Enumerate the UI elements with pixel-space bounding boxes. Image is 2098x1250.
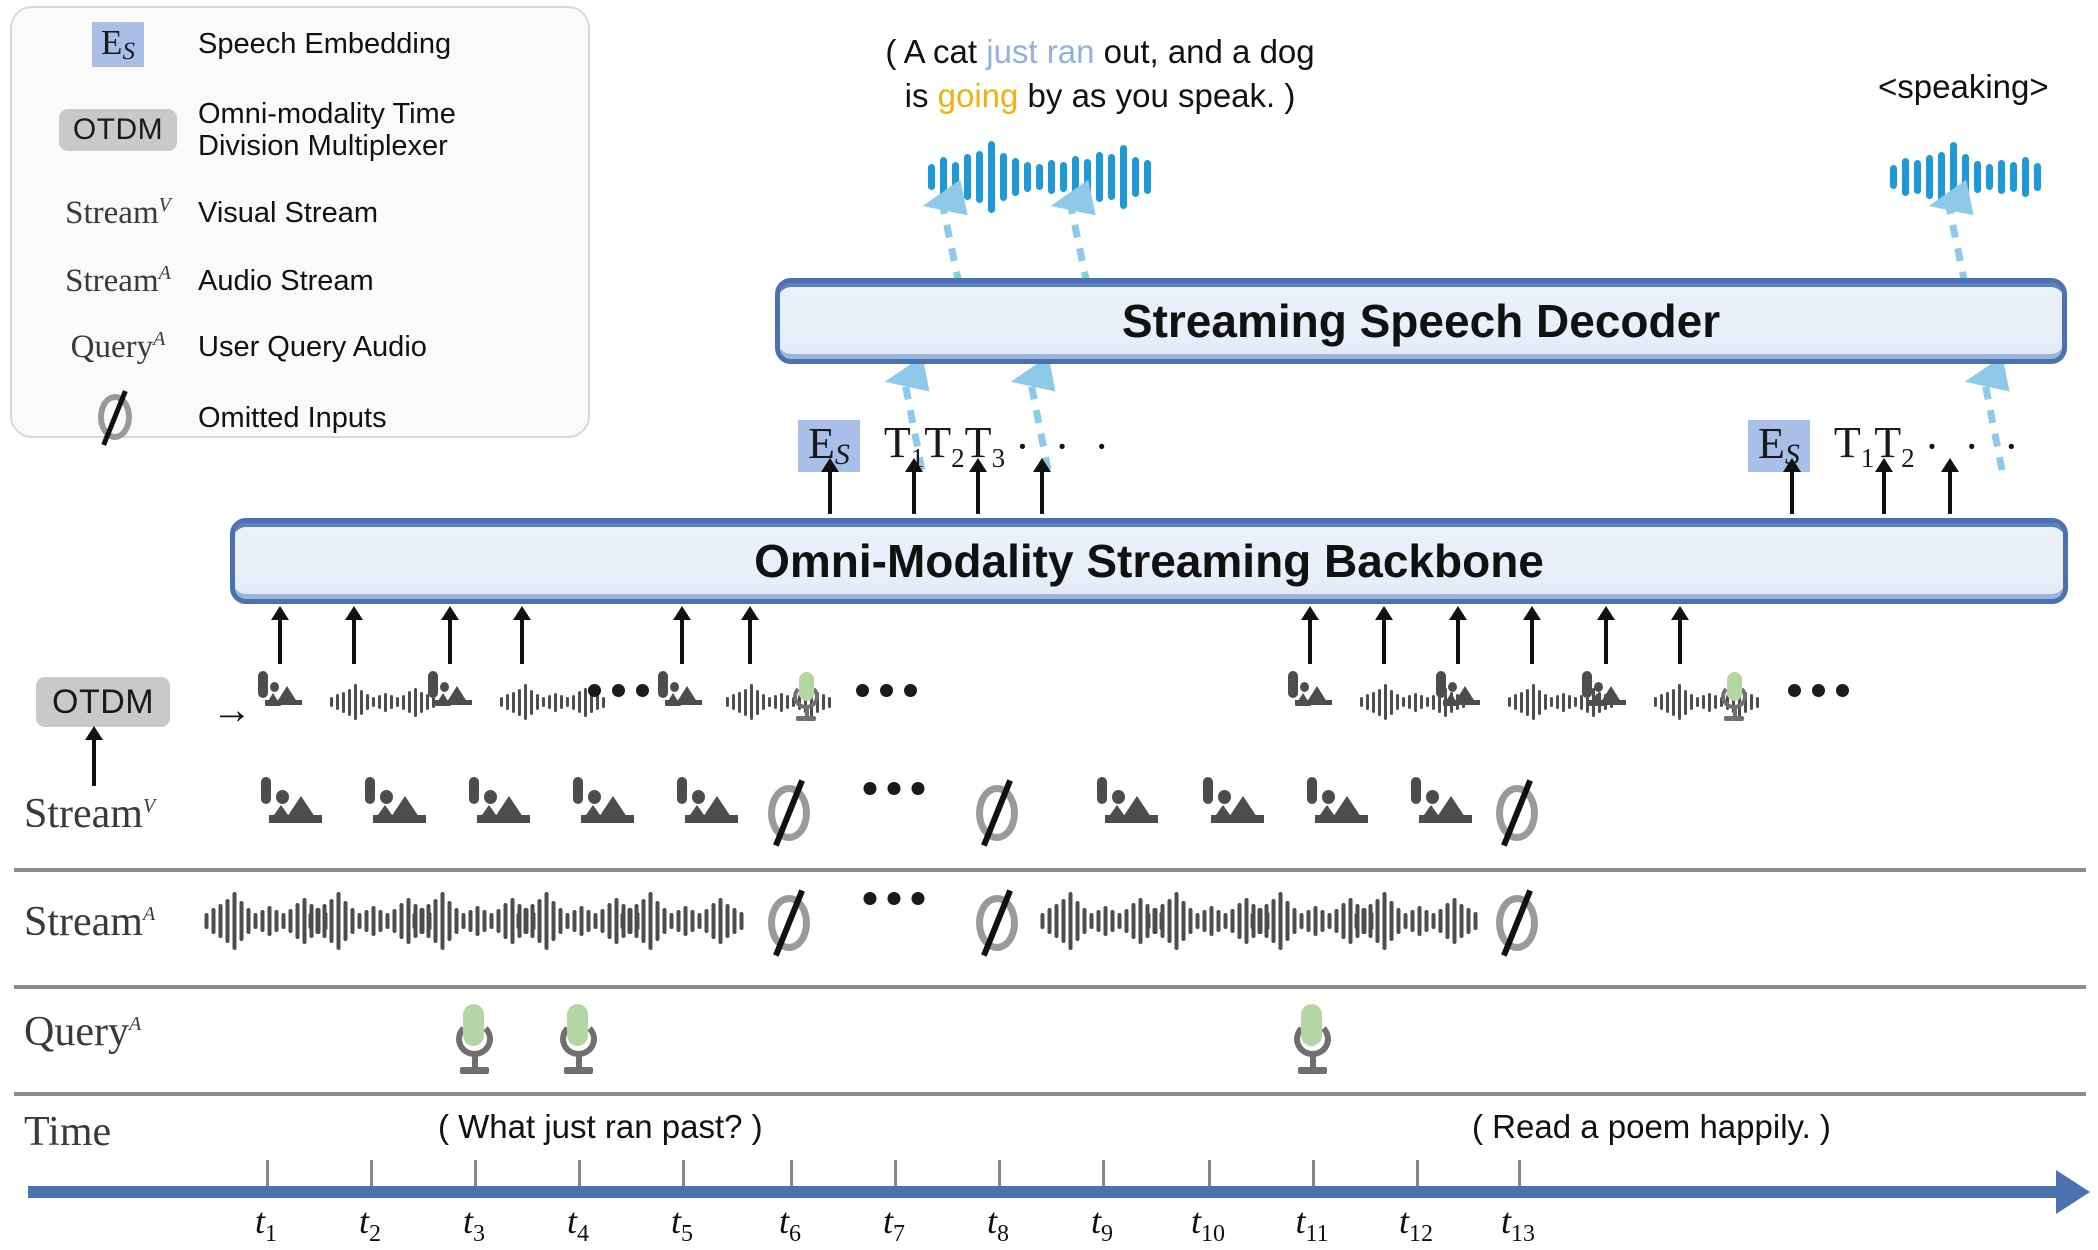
legend-key-otdm: OTDM: [38, 109, 198, 151]
time-tick-label: t3: [463, 1200, 485, 1248]
streaming-speech-decoder-label: Streaming Speech Decoder: [1122, 294, 1720, 348]
legend-label-otdm: Omni-modality Time Division Multiplexer: [198, 98, 456, 163]
stream-a-cell: [621, 892, 744, 950]
backbone-to-token-arrow: [1948, 470, 1952, 514]
otdm-block[interactable]: OTDM: [36, 683, 170, 722]
legend-label-otdm-line1: Omni-modality Time: [198, 98, 456, 130]
omitted-input-icon: [1490, 782, 1546, 844]
legend-panel: ES Speech Embedding OTDM Omni-modality T…: [10, 6, 590, 438]
mux-to-backbone-arrow: [520, 618, 524, 664]
stream-v-cell: [1490, 782, 1546, 849]
query-caption-1: ( What just ran past? ): [438, 1108, 763, 1146]
speech-wave-bar: [1036, 164, 1043, 190]
image-frame-icon: [1288, 671, 1298, 698]
time-tick: [578, 1160, 581, 1186]
speech-wave-bar: [1998, 160, 2005, 194]
stream-v-cell: [469, 782, 479, 800]
mux-token: [330, 684, 435, 720]
microphone-icon: [1289, 1004, 1335, 1074]
legend-key-omitted-inputs: [38, 392, 198, 444]
mux-token: [1436, 676, 1446, 694]
stream-a-cell: [864, 892, 925, 905]
time-axis-line: [28, 1186, 2060, 1198]
microphone-icon: [451, 1004, 497, 1074]
image-frame-icon: [1203, 777, 1213, 804]
mux-token: [258, 676, 268, 694]
time-tick: [998, 1160, 1001, 1186]
time-tick-label: t7: [883, 1200, 905, 1248]
backbone-to-token-arrow: [1040, 470, 1044, 514]
mux-to-backbone-arrow: [352, 618, 356, 664]
query-a-symbol: QueryA: [71, 328, 166, 366]
time-tick-label: t5: [671, 1200, 693, 1248]
time-tick: [894, 1160, 897, 1186]
stream-a-cell: [1490, 892, 1546, 959]
audio-waveform-icon: [1355, 892, 1478, 950]
legend-item-otdm: OTDM Omni-modality Time Division Multipl…: [38, 98, 578, 163]
image-frame-icon: [258, 671, 268, 698]
backbone-to-token-arrow: [976, 470, 980, 514]
time-tick-label: t11: [1295, 1200, 1328, 1248]
omni-modality-streaming-backbone-label: Omni-Modality Streaming Backbone: [754, 534, 1544, 588]
token-t1-right: T1: [1834, 421, 1874, 472]
time-tick: [474, 1160, 477, 1186]
mux-to-backbone-arrow: [1382, 618, 1386, 664]
mux-token: [588, 684, 649, 697]
time-tick: [1102, 1160, 1105, 1186]
image-frame-icon: [469, 777, 479, 804]
mux-to-backbone-arrow: [278, 618, 282, 664]
time-tick-label: t1: [255, 1200, 277, 1248]
legend-key-audio-stream: StreamA: [38, 262, 198, 300]
time-tick: [682, 1160, 685, 1186]
mux-token: [1718, 672, 1750, 726]
row-separator-2: [14, 985, 2086, 989]
legend-item-omitted-inputs: Omitted Inputs: [38, 392, 578, 444]
speech-wave-bar: [1024, 162, 1031, 192]
stream-v-cell: [864, 782, 925, 795]
legend-item-user-query-audio: QueryA User Query Audio: [38, 328, 578, 366]
mux-token: [1788, 684, 1849, 697]
time-tick-label: t4: [567, 1200, 589, 1248]
mux-to-backbone-arrow: [1456, 618, 1460, 664]
microphone-icon: [1718, 672, 1750, 721]
row-label-time: Time: [24, 1108, 111, 1156]
ellipsis-dots: [588, 684, 649, 697]
time-tick-label: t6: [779, 1200, 801, 1248]
token-row-left: ES T1 T2 T3 · · ·: [798, 420, 1116, 472]
backbone-to-token-arrow: [912, 470, 916, 514]
audio-waveform-icon: [621, 892, 744, 950]
mux-token: [1288, 676, 1298, 694]
image-frame-icon: [1582, 671, 1592, 698]
row-label-stream-v: StreamV: [24, 790, 155, 838]
speech-wave-bar: [2010, 162, 2017, 192]
stream-v-cell: [677, 782, 687, 800]
image-frame-icon: [658, 671, 668, 698]
stream-v-cell: [1097, 782, 1107, 800]
time-tick-label: t8: [987, 1200, 1009, 1248]
caption-seg1: ( A cat: [885, 33, 986, 70]
mux-to-backbone-arrow: [1308, 618, 1312, 664]
legend-key-speech-embedding: ES: [38, 22, 198, 67]
query-caption-2: ( Read a poem happily. ): [1472, 1108, 1831, 1146]
stream-v-cell: [1203, 782, 1213, 800]
ellipsis-dots: [864, 892, 925, 905]
mux-to-backbone-arrow: [1530, 618, 1534, 664]
query-a-cell: [1289, 1004, 1335, 1079]
omitted-input-icon: [1490, 892, 1546, 954]
backbone-to-token-arrow: [1790, 470, 1794, 514]
mux-token: [1582, 676, 1592, 694]
stream-v-cell: [261, 782, 271, 800]
image-frame-icon: [365, 777, 375, 804]
mux-token: [790, 672, 822, 726]
time-tick: [1416, 1160, 1419, 1186]
mux-token: [428, 676, 438, 694]
query-a-cell: [555, 1004, 601, 1079]
image-frame-icon: [573, 777, 583, 804]
stream-a-cell: [762, 892, 818, 959]
time-axis-arrowhead: [2056, 1170, 2090, 1214]
caption-highlight-blue: just ran: [986, 33, 1094, 70]
legend-item-audio-stream: StreamA Audio Stream: [38, 262, 578, 300]
audio-waveform-icon: [1041, 892, 1164, 950]
token-ellipsis-right: · · ·: [1925, 421, 2026, 472]
omitted-input-icon: [762, 892, 818, 954]
omitted-input-icon: [762, 782, 818, 844]
row-separator-1: [14, 868, 2086, 872]
image-frame-icon: [677, 777, 687, 804]
image-frame-icon: [261, 777, 271, 804]
caption-seg6: by as you speak. ): [1018, 77, 1295, 114]
row-label-stream-a: StreamA: [24, 898, 155, 946]
speech-embedding-chip: ES: [92, 22, 144, 67]
speech-wave-bar: [1890, 165, 1897, 189]
speech-wave-bar: [2034, 163, 2041, 191]
otdm-block-label: OTDM: [36, 677, 170, 727]
speech-wave-bar: [1914, 160, 1921, 194]
omitted-input-icon: [970, 892, 1026, 954]
speech-wave-bar: [928, 164, 935, 190]
legend-label-visual-stream: Visual Stream: [198, 197, 378, 229]
time-tick: [1208, 1160, 1211, 1186]
stream-a-cell: [1041, 892, 1164, 950]
legend-label-speech-embedding: Speech Embedding: [198, 28, 451, 60]
legend-key-user-query-audio: QueryA: [38, 328, 198, 366]
stream-v-cell: [573, 782, 583, 800]
stream-v-cell: [365, 782, 375, 800]
microphone-icon: [790, 672, 822, 721]
mux-token: [856, 684, 917, 697]
time-tick-label: t2: [359, 1200, 381, 1248]
microphone-icon: [555, 1004, 601, 1074]
time-tick: [370, 1160, 373, 1186]
speech-wave-bar: [1048, 160, 1055, 194]
time-tick: [1312, 1160, 1315, 1186]
speaking-tag-label: <speaking>: [1878, 68, 2049, 106]
caption-seg4: is: [905, 77, 938, 114]
query-a-cell: [451, 1004, 497, 1079]
time-tick: [790, 1160, 793, 1186]
otdm-right-arrow-icon: →: [212, 688, 252, 733]
stream-a-cell: [970, 892, 1026, 959]
stream-v-cell: [970, 782, 1026, 849]
mux-to-backbone-arrow: [448, 618, 452, 664]
speech-wave-bar: [1986, 164, 1993, 190]
ellipsis-dots: [856, 684, 917, 697]
legend-label-otdm-line2: Division Multiplexer: [198, 130, 456, 162]
ellipsis-dots: [864, 782, 925, 795]
backbone-to-token-arrow: [1882, 470, 1886, 514]
time-tick-label: t9: [1091, 1200, 1113, 1248]
omitted-input-icon: [970, 782, 1026, 844]
speech-wave-bar: [1144, 160, 1151, 194]
legend-label-user-query-audio: User Query Audio: [198, 331, 427, 363]
time-tick-label: t13: [1501, 1200, 1535, 1248]
mux-to-backbone-arrow: [1678, 618, 1682, 664]
streaming-speech-decoder-box[interactable]: Streaming Speech Decoder: [775, 278, 2067, 364]
row-label-query-a: QueryA: [24, 1008, 141, 1056]
stream-to-otdm-arrow: [92, 738, 96, 786]
otdm-chip: OTDM: [59, 109, 177, 151]
speech-wave-bar: [1974, 161, 1981, 193]
caption-seg3: out, and a dog: [1094, 33, 1314, 70]
assistant-output-caption: ( A cat just ran out, and a dog is going…: [810, 30, 1390, 117]
time-tick-label: t12: [1399, 1200, 1433, 1248]
mux-to-backbone-arrow: [1604, 618, 1608, 664]
stream-a-symbol: StreamA: [65, 262, 171, 300]
stream-v-symbol: StreamV: [65, 194, 171, 232]
legend-key-visual-stream: StreamV: [38, 194, 198, 232]
omni-modality-streaming-backbone-box[interactable]: Omni-Modality Streaming Backbone: [230, 518, 2068, 604]
null-symbol-icon: [92, 392, 144, 444]
stream-v-cell: [762, 782, 818, 849]
stream-v-cell: [1307, 782, 1317, 800]
image-frame-icon: [428, 671, 438, 698]
legend-label-audio-stream: Audio Stream: [198, 265, 374, 297]
image-frame-icon: [1307, 777, 1317, 804]
time-tick: [1518, 1160, 1521, 1186]
mux-token: [658, 676, 668, 694]
legend-label-omitted-inputs: Omitted Inputs: [198, 402, 387, 434]
time-tick-label: t10: [1191, 1200, 1225, 1248]
stream-v-cell: [1411, 782, 1421, 800]
stream-a-cell: [1355, 892, 1478, 950]
speech-wave-bar: [1060, 162, 1067, 192]
caption-highlight-gold: going: [938, 77, 1019, 114]
image-frame-icon: [1097, 777, 1107, 804]
image-frame-icon: [1411, 777, 1421, 804]
audio-waveform-icon: [330, 684, 435, 720]
mux-to-backbone-arrow: [748, 618, 752, 664]
mux-to-backbone-arrow: [680, 618, 684, 664]
image-frame-icon: [1436, 671, 1446, 698]
token-t2-left: T2: [924, 421, 964, 472]
legend-item-speech-embedding: ES Speech Embedding: [38, 22, 578, 67]
row-separator-3: [14, 1092, 2086, 1096]
legend-item-visual-stream: StreamV Visual Stream: [38, 194, 578, 232]
speech-wave-bar: [952, 162, 959, 192]
token-ellipsis-left: · · ·: [1015, 421, 1116, 472]
backbone-to-token-arrow: [828, 470, 832, 514]
time-tick: [266, 1160, 269, 1186]
ellipsis-dots: [1788, 684, 1849, 697]
